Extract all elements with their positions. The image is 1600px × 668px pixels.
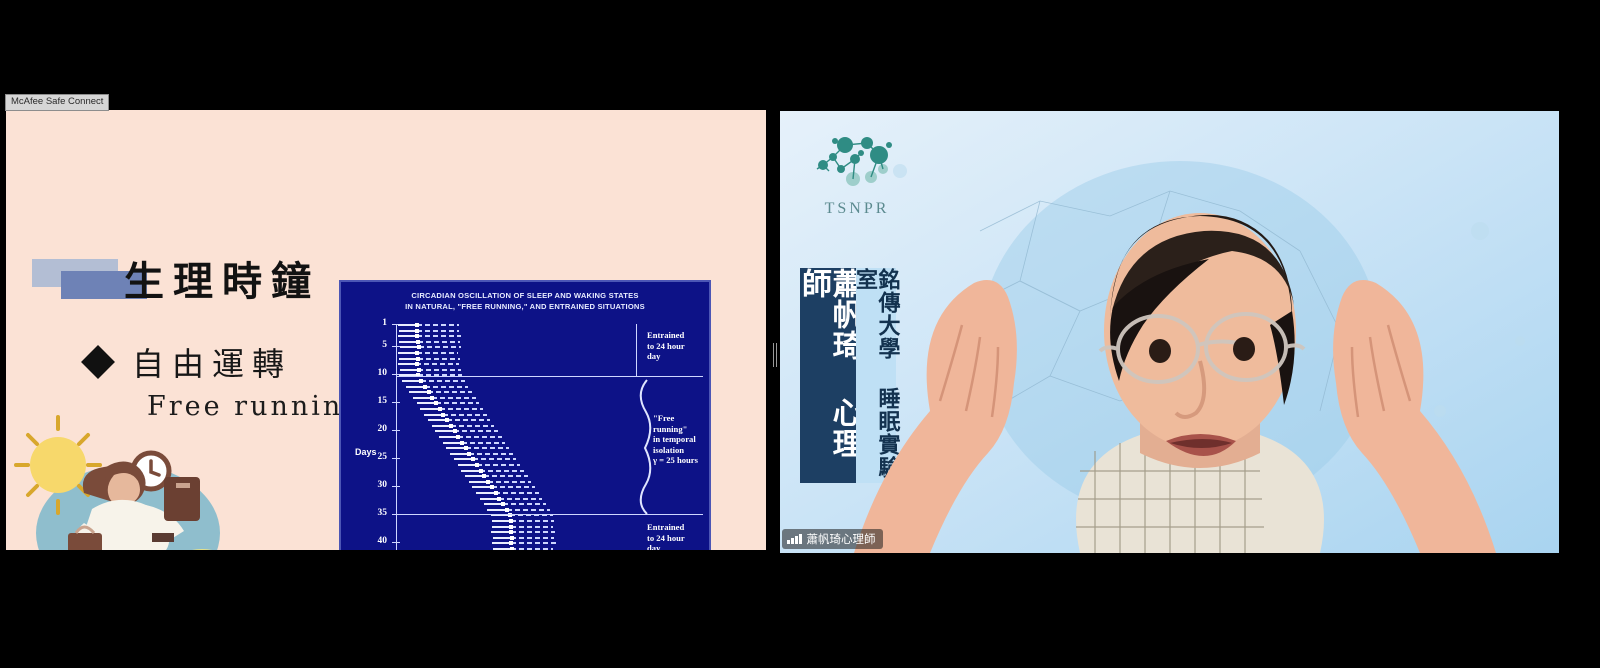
sleep-bar (406, 386, 425, 388)
onset-marker (434, 401, 438, 405)
sleep-bar (458, 464, 477, 466)
signal-strength-icon (787, 534, 802, 544)
wake-bar (417, 324, 459, 326)
sleep-bar (399, 358, 418, 360)
onset-marker (423, 385, 427, 389)
onset-marker (415, 351, 419, 355)
wake-bar (417, 330, 459, 332)
sleep-bar (439, 436, 458, 438)
onset-marker (464, 446, 468, 450)
onset-marker (497, 497, 501, 501)
bullet-row: 自由運轉 (86, 339, 292, 385)
onset-marker (471, 457, 475, 461)
onset-marker (427, 390, 431, 394)
sleep-bar (480, 498, 499, 500)
wake-bar (488, 481, 531, 483)
annotation-line: in temporal (653, 434, 715, 445)
onset-marker (417, 345, 421, 349)
onset-marker (467, 452, 471, 456)
onset-marker (416, 357, 420, 361)
onset-marker (475, 463, 479, 467)
onset-marker (510, 547, 514, 550)
slide-title: 生理時鐘 (124, 249, 320, 307)
sleep-bar (399, 330, 418, 332)
sleep-bar (484, 503, 503, 505)
meeting-screen: McAfee Safe Connect 生理時鐘 自由運轉 Free runni… (0, 0, 1600, 668)
annotation-line: γ = 25 hours (653, 455, 715, 466)
onset-marker (479, 469, 483, 473)
diamond-bullet-icon (81, 345, 115, 379)
bullet-text-cn: 自由運轉 (132, 339, 292, 385)
sleep-bar (493, 548, 511, 550)
sleep-bar (492, 542, 512, 544)
wake-bar (507, 509, 550, 511)
sleep-bar (476, 492, 495, 494)
onset-marker (453, 429, 457, 433)
wake-bar (477, 464, 520, 466)
wake-bar (511, 542, 555, 544)
wake-bar (466, 447, 509, 449)
wake-bar (425, 386, 468, 388)
wake-bar (469, 453, 512, 455)
onset-marker (441, 413, 445, 417)
onset-marker (505, 508, 509, 512)
chart-title-line-1: CIRCADIAN OSCILLATION OF SLEEP AND WAKIN… (341, 290, 709, 301)
wake-bar (484, 475, 527, 477)
sleep-bar (469, 481, 488, 483)
annotation-line: isolation (653, 445, 715, 456)
wake-bar (421, 380, 465, 382)
onset-marker (417, 368, 421, 372)
actogram-plot-area (397, 324, 652, 550)
wake-bar (503, 503, 546, 505)
annotation-line: to 24 hour (647, 533, 709, 544)
wake-bar (454, 430, 497, 432)
sleep-bar (398, 324, 417, 326)
wake-bar (440, 408, 483, 410)
annotation-free-running: "Free running" in temporal isolation γ =… (653, 413, 715, 466)
wake-bar (499, 498, 542, 500)
wake-bar (458, 436, 501, 438)
wake-bar (419, 346, 461, 348)
wake-bar (418, 358, 461, 360)
sleep-bar (443, 442, 462, 444)
wake-bar (436, 402, 479, 404)
sleep-bar (454, 458, 473, 460)
annotation-line: running" (653, 424, 715, 435)
wake-bar (462, 442, 505, 444)
sleep-bar (424, 414, 443, 416)
onset-marker (445, 418, 449, 422)
y-tick-label: 30 (361, 480, 387, 490)
wake-bar (511, 548, 552, 550)
sleep-bar (491, 531, 511, 533)
note-divider-line (636, 324, 637, 377)
wake-bar (511, 520, 554, 522)
region-separator-bottom (397, 514, 703, 515)
onset-marker (501, 502, 505, 506)
wake-bar (443, 414, 486, 416)
shared-screen-slide[interactable]: 生理時鐘 自由運轉 Free running (6, 110, 766, 550)
sleep-bar (450, 453, 469, 455)
wake-bar (473, 458, 516, 460)
y-tick-label: 10 (361, 368, 387, 378)
annotation-line: "Free (653, 413, 715, 424)
sleep-bar (465, 475, 484, 477)
sleep-bar (446, 447, 465, 449)
onset-marker (486, 480, 490, 484)
participant-name-badge: 蕭帆琦心理師 (782, 529, 883, 549)
y-tick-label: 25 (361, 452, 387, 462)
onset-marker (415, 334, 419, 338)
sleep-bar (493, 537, 512, 539)
wake-bar (416, 363, 459, 365)
onset-marker (509, 525, 513, 529)
onset-marker (482, 474, 486, 478)
onset-marker (415, 323, 419, 327)
onset-marker (449, 424, 453, 428)
annotation-line: Entrained (647, 522, 709, 533)
sleep-bar (487, 509, 506, 511)
sleep-bar (409, 391, 428, 393)
wake-bar (511, 526, 553, 528)
wake-bar (432, 397, 475, 399)
sleep-bar (398, 363, 417, 365)
sleep-bar (461, 470, 480, 472)
sleep-bar (492, 520, 511, 522)
annotation-entrained-bottom: Entrained to 24 hour day (647, 522, 709, 550)
participant-video-tile[interactable]: TSNPR 蕭帆琦 心理師 銘傳大學 睡眠實驗室 (780, 111, 1559, 553)
sleep-bar (398, 352, 417, 354)
y-tick-label: 35 (361, 508, 387, 518)
wake-bar (480, 470, 523, 472)
onset-marker (509, 530, 513, 534)
onset-marker (419, 379, 423, 383)
wake-bar (417, 352, 459, 354)
sleep-bar (413, 397, 432, 399)
wake-bar (418, 369, 460, 371)
wake-bar (492, 486, 535, 488)
onset-marker (460, 441, 464, 445)
onset-marker (509, 519, 513, 523)
running-woman-illustration (6, 405, 256, 550)
onset-marker (415, 362, 419, 366)
sleep-bar (399, 341, 418, 343)
onset-marker (456, 435, 460, 439)
annotation-line: to 24 hour (647, 341, 709, 352)
sleep-bar (435, 430, 454, 432)
onset-marker (438, 407, 442, 411)
y-tick-label: 40 (361, 536, 387, 546)
sleep-bar (492, 526, 511, 528)
y-tick-label: 15 (361, 396, 387, 406)
sleep-bar (402, 380, 421, 382)
participant-name-text: 蕭帆琦心理師 (807, 531, 876, 547)
wake-bar (418, 341, 460, 343)
onset-marker (490, 485, 494, 489)
wake-bar (447, 419, 490, 421)
panel-divider-handle[interactable] (772, 343, 778, 367)
chart-title: CIRCADIAN OSCILLATION OF SLEEP AND WAKIN… (341, 290, 709, 312)
sleep-bar (432, 425, 451, 427)
annotation-line: Entrained (647, 330, 709, 341)
wake-bar (428, 391, 471, 393)
onset-marker (509, 541, 513, 545)
sleep-bar (428, 419, 447, 421)
sleep-bar (400, 346, 419, 348)
sleep-bar (400, 369, 419, 371)
sleep-bar (417, 402, 436, 404)
annotation-entrained-top: Entrained to 24 hour day (647, 330, 709, 362)
onset-marker (416, 340, 420, 344)
wake-bar (511, 537, 553, 539)
onset-marker (510, 536, 514, 540)
annotation-line: day (647, 543, 709, 550)
mcafee-safe-connect-tooltip: McAfee Safe Connect (5, 94, 109, 111)
wake-bar (417, 335, 461, 337)
onset-marker (415, 329, 419, 333)
wake-bar (451, 425, 494, 427)
sleep-bar (420, 408, 439, 410)
y-tick-label: 20 (361, 424, 387, 434)
onset-marker (430, 396, 434, 400)
region-separator-top (397, 376, 703, 377)
onset-marker (494, 491, 498, 495)
chart-title-line-2: IN NATURAL, "FREE RUNNING," AND ENTRAINE… (341, 301, 709, 312)
annotation-line: day (647, 351, 709, 362)
y-tick-label: 5 (361, 340, 387, 350)
sleep-bar (472, 486, 491, 488)
wake-bar (495, 492, 538, 494)
y-tick-label: 1 (361, 318, 387, 328)
sleep-bar (398, 335, 417, 337)
wake-bar (511, 531, 555, 533)
circadian-actogram-chart: CIRCADIAN OSCILLATION OF SLEEP AND WAKIN… (339, 280, 711, 550)
speaker-webcam-image (780, 111, 1559, 553)
